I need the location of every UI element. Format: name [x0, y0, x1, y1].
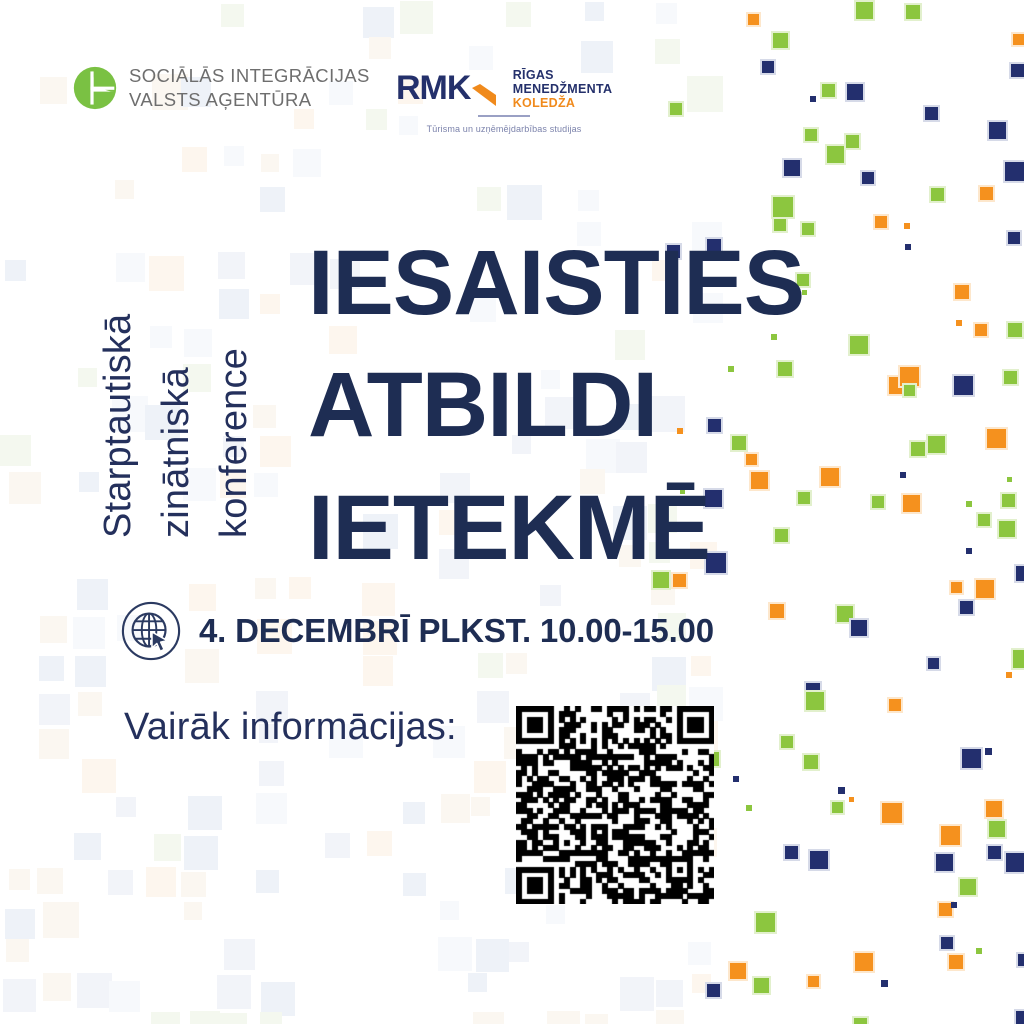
date-row: 4. DECEMBRĪ PLKST. 10.00-15.00 — [120, 600, 714, 662]
conference-label-line-2: zinātniskā — [155, 367, 198, 538]
globe-cursor-icon — [120, 600, 182, 662]
headline-line-3: IETEKMĒ — [308, 467, 804, 589]
conference-label-vertical: Starptautiskā zinātniskā konference — [112, 228, 312, 538]
siva-text-line2: VALSTS AĢENTŪRA — [129, 88, 370, 112]
rmk-logo-top: RMK RĪGAS MENEDŽMENTA KOLEDŽA — [396, 66, 613, 112]
rmk-line1: RĪGAS — [513, 68, 613, 82]
date-text: 4. DECEMBRĪ PLKST. 10.00-15.00 — [199, 612, 714, 650]
headline: IESAISTIES ATBILDI IETEKMĒ — [308, 222, 804, 589]
logo-bar: SOCIĀLĀS INTEGRĀCIJAS VALSTS AĢENTŪRA RM… — [72, 64, 612, 134]
conference-label-line-3: konference — [213, 348, 256, 538]
siva-circle-mark-icon — [72, 65, 118, 111]
rmk-divider — [478, 115, 530, 117]
svg-text:RMK: RMK — [396, 69, 472, 107]
headline-line-1: IESAISTIES — [308, 222, 804, 344]
siva-logo: SOCIĀLĀS INTEGRĀCIJAS VALSTS AĢENTŪRA — [72, 64, 370, 111]
siva-logo-text: SOCIĀLĀS INTEGRĀCIJAS VALSTS AĢENTŪRA — [129, 64, 370, 111]
rmk-wordmark-icon: RMK — [396, 66, 504, 112]
rmk-tagline: Tūrisma un uzņēmējdarbības studijas — [427, 124, 582, 134]
rmk-line2: MENEDŽMENTA — [513, 82, 613, 96]
qr-code[interactable] — [516, 706, 714, 904]
conference-label-line-1: Starptautiskā — [97, 314, 140, 538]
qr-code-canvas[interactable] — [516, 706, 714, 904]
siva-text-line1: SOCIĀLĀS INTEGRĀCIJAS — [129, 64, 370, 88]
headline-line-2: ATBILDI — [308, 344, 804, 466]
conference-poster: SOCIĀLĀS INTEGRĀCIJAS VALSTS AĢENTŪRA RM… — [0, 0, 1024, 1024]
rmk-line3: KOLEDŽA — [513, 96, 613, 110]
rmk-logo: RMK RĪGAS MENEDŽMENTA KOLEDŽA Tūrisma un… — [396, 64, 613, 134]
rmk-name-lines: RĪGAS MENEDŽMENTA KOLEDŽA — [513, 68, 613, 110]
more-info-label: Vairāk informācijas: — [124, 706, 457, 749]
